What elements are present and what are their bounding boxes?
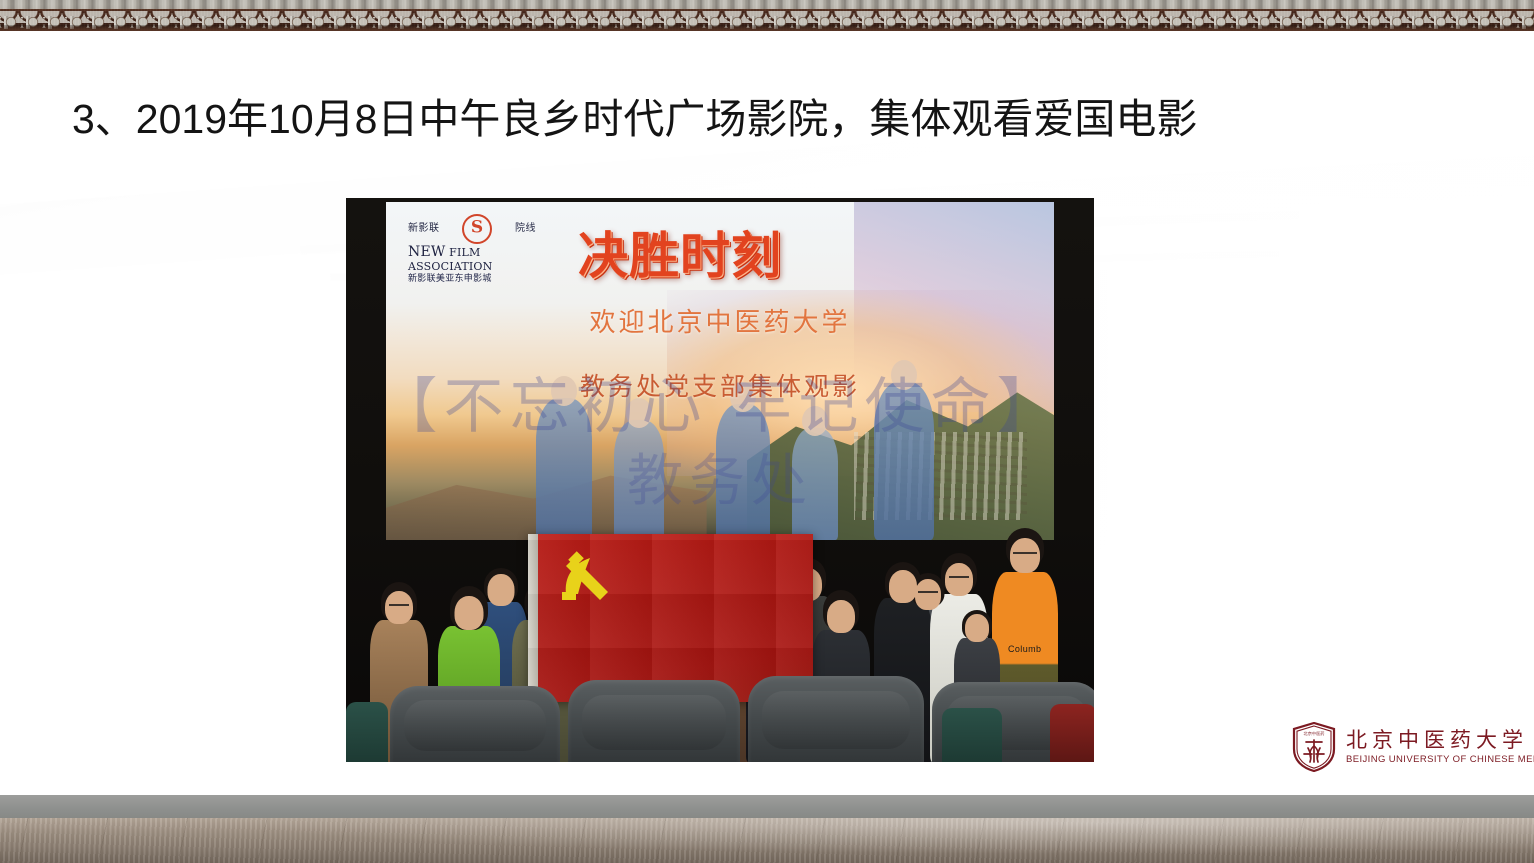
- theater-seats: [346, 654, 1094, 762]
- university-shield-icon: 北京中医药: [1292, 722, 1336, 772]
- screen-welcome-line2: 教务处党支部集体观影: [386, 367, 1054, 403]
- roof-eave-border: [0, 0, 1534, 31]
- chain-logo-en2: FILM: [449, 246, 480, 259]
- chain-logo-cn-left: 新影联: [408, 224, 440, 235]
- university-name-en: BEIJING UNIVERSITY OF CHINESE MEDICINE: [1346, 755, 1534, 765]
- bottom-stone-pavement-band: [0, 818, 1534, 863]
- chain-swoosh-icon: [462, 214, 492, 244]
- cinema-chain-logo: 新影联 院线 NEW FILM ASSOCIATION 新影联美亚东申影城: [408, 214, 536, 284]
- theater-seat: [748, 676, 924, 762]
- theater-seat: [568, 680, 740, 762]
- svg-text:北京中医药: 北京中医药: [1304, 730, 1325, 737]
- chain-logo-en1: NEW: [408, 244, 445, 260]
- theater-seat-side: [942, 708, 1002, 762]
- group-photo: 新影联 院线 NEW FILM ASSOCIATION 新影联美亚东申影城 决胜…: [346, 198, 1094, 762]
- theater-seat-side: [346, 702, 388, 762]
- university-logo: 北京中医药 北京中医药大学 BEIJING UNIVERSITY OF CHIN…: [1292, 722, 1534, 772]
- film-title: 决胜时刻: [578, 216, 782, 288]
- theater-seat-side: [1050, 704, 1094, 762]
- hammer-and-sickle-icon: [556, 548, 624, 608]
- jacket-brand-text: Columb: [1008, 644, 1041, 654]
- chain-logo-cn-right: 院线: [515, 224, 536, 235]
- slide-title: 3、2019年10月8日中午良乡时代广场影院，集体观看爱国电影: [72, 94, 1462, 144]
- chain-logo-en3: ASSOCIATION: [408, 260, 492, 273]
- presentation-slide: 3、2019年10月8日中午良乡时代广场影院，集体观看爱国电影 新影联 院线: [0, 0, 1534, 863]
- theater-seat: [390, 686, 560, 762]
- university-name-cn: 北京中医药大学: [1346, 729, 1534, 751]
- screen-welcome-block: 欢迎北京中医药大学 教务处党支部集体观影: [386, 302, 1054, 403]
- screen-welcome-line1: 欢迎北京中医药大学: [386, 302, 1054, 339]
- bottom-grey-band: [0, 795, 1534, 818]
- chain-logo-cn-bottom: 新影联美亚东申影城: [408, 274, 536, 283]
